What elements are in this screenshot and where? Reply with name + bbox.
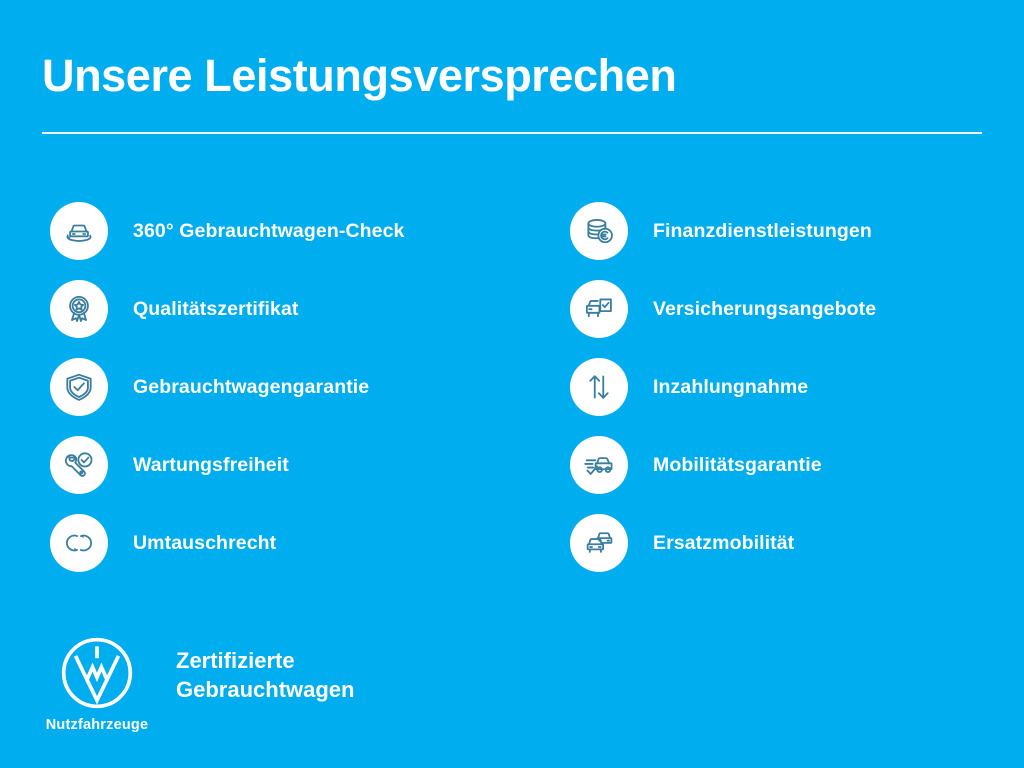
brand-lockup: Nutzfahrzeuge Zertifizierte Gebrauchtwag… <box>42 636 354 733</box>
award-rosette-icon <box>50 280 108 338</box>
benefit-item-gebrauchtwagengarantie[interactable]: Gebrauchtwagengarantie <box>50 356 490 418</box>
benefit-item-ersatzmobilitaet[interactable]: Ersatzmobilität <box>570 512 1010 574</box>
benefit-label: Finanzdienstleistungen <box>653 220 872 243</box>
benefit-label: Inzahlungnahme <box>653 376 808 399</box>
benefits-right-column: Finanzdienstleistungen Versicherungsange… <box>570 200 1010 574</box>
car-document-check-icon <box>570 280 628 338</box>
slide-root: Unsere Leistungsversprechen 360° Gebrauc… <box>0 0 1024 768</box>
exchange-arrows-icon <box>50 514 108 572</box>
benefit-label: Mobilitätsgarantie <box>653 454 822 477</box>
brand-tagline: Zertifizierte Gebrauchtwagen <box>176 646 354 704</box>
benefit-label: Versicherungsangebote <box>653 298 876 321</box>
benefit-label: 360° Gebrauchtwagen-Check <box>133 220 404 243</box>
benefit-item-wartungsfreiheit[interactable]: Wartungsfreiheit <box>50 434 490 496</box>
benefit-item-qualitaetszertifikat[interactable]: Qualitätszertifikat <box>50 278 490 340</box>
volkswagen-logo <box>60 636 134 710</box>
benefits-left-column: 360° Gebrauchtwagen-Check Qualitätszerti… <box>50 200 490 574</box>
benefit-label: Wartungsfreiheit <box>133 454 289 477</box>
brand-tagline-line1: Zertifizierte <box>176 646 354 675</box>
up-down-arrows-icon <box>570 358 628 416</box>
brand-tagline-line2: Gebrauchtwagen <box>176 675 354 704</box>
coins-euro-icon <box>570 202 628 260</box>
benefit-item-inzahlungnahme[interactable]: Inzahlungnahme <box>570 356 1010 418</box>
benefit-item-umtauschrecht[interactable]: Umtauschrecht <box>50 512 490 574</box>
brand-mark: Nutzfahrzeuge <box>42 636 152 733</box>
benefit-item-mobilitaetsgarantie[interactable]: Mobilitätsgarantie <box>570 434 1010 496</box>
benefit-label: Umtauschrecht <box>133 532 276 555</box>
shield-check-icon <box>50 358 108 416</box>
title-divider <box>42 132 982 134</box>
benefit-label: Qualitätszertifikat <box>133 298 299 321</box>
two-cars-icon <box>570 514 628 572</box>
benefit-label: Ersatzmobilität <box>653 532 794 555</box>
benefit-item-finanzdienstleistungen[interactable]: Finanzdienstleistungen <box>570 200 1010 262</box>
benefit-item-versicherungsangebote[interactable]: Versicherungsangebote <box>570 278 1010 340</box>
brand-subtitle: Nutzfahrzeuge <box>42 717 152 733</box>
van-speed-check-icon <box>570 436 628 494</box>
page-title: Unsere Leistungsversprechen <box>42 52 676 101</box>
benefit-item-gebrauchtwagen-check[interactable]: 360° Gebrauchtwagen-Check <box>50 200 490 262</box>
wrench-check-icon <box>50 436 108 494</box>
benefit-label: Gebrauchtwagengarantie <box>133 376 369 399</box>
car-360-check-icon <box>50 202 108 260</box>
